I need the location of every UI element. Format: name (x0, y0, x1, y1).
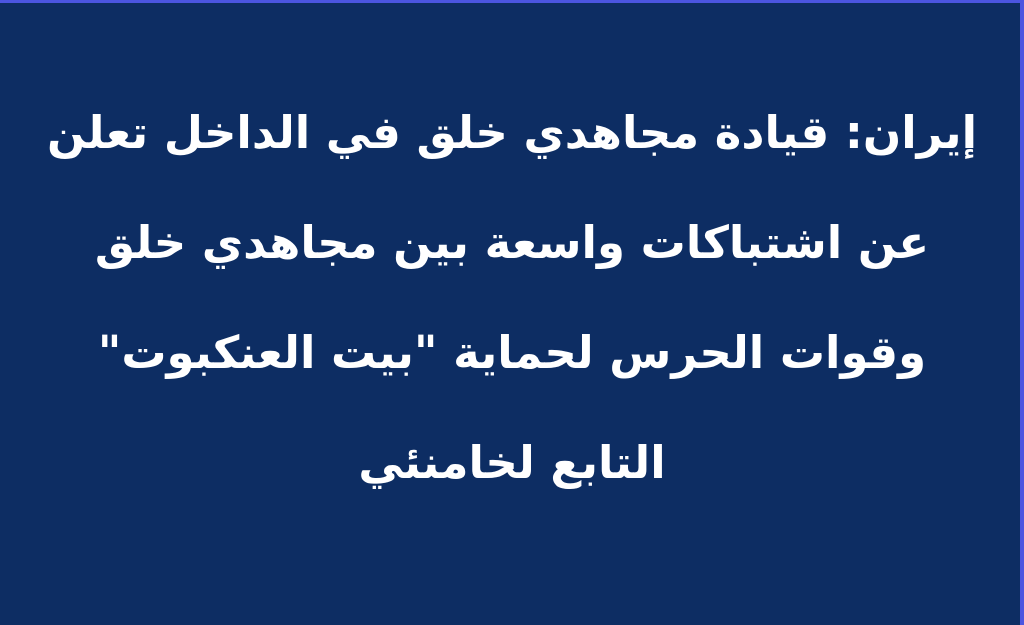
headline-card: إيران: قيادة مجاهدي خلق في الداخل تعلن ع… (0, 0, 1024, 625)
right-edge-accent-bar (1020, 0, 1024, 625)
headline-line-4: التابع لخامنئي (34, 408, 990, 518)
headline-line-1: إيران: قيادة مجاهدي خلق في الداخل تعلن (34, 78, 990, 188)
headline-line-3: وقوات الحرس لحماية "بيت العنكبوت" (34, 298, 990, 408)
headline-text-block: إيران: قيادة مجاهدي خلق في الداخل تعلن ع… (0, 78, 1024, 518)
headline-line-2: عن اشتباكات واسعة بين مجاهدي خلق (34, 188, 990, 298)
top-edge-accent-bar (0, 0, 1024, 3)
